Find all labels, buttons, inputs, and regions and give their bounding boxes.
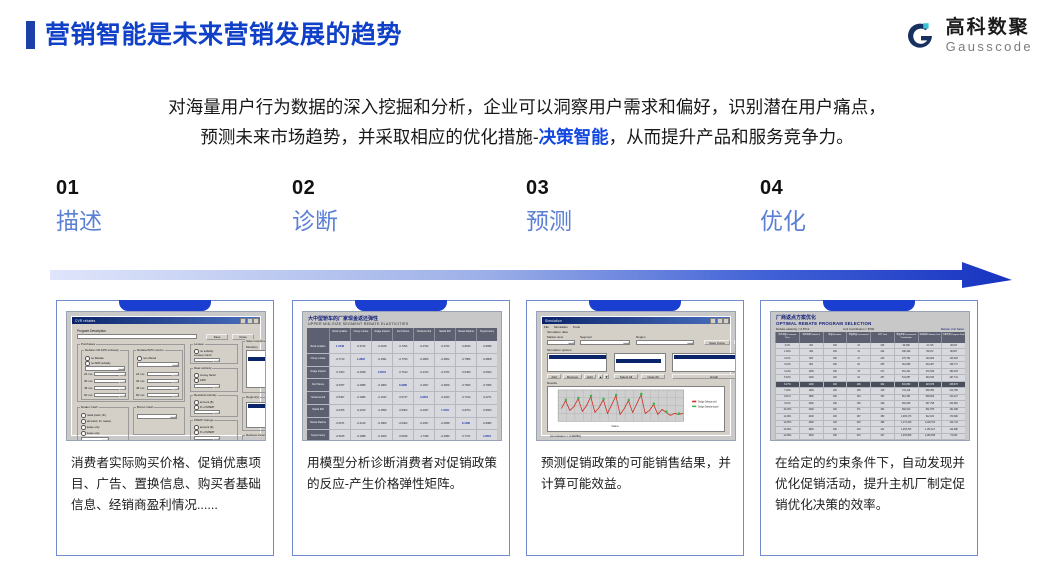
matrix-col-header: Mazda 626 [434, 328, 455, 341]
optimal-cell: 599,906 [918, 395, 942, 400]
optimal-cell: 249 [846, 440, 870, 441]
optimal-cell: 3.12% [775, 362, 799, 367]
clear-all-button[interactable]: Clear All [641, 374, 665, 379]
matrix-cell: -0.6490 [455, 367, 476, 379]
optimal-cell: 1,263,705 [894, 427, 918, 432]
intro-line-2-b: ，从而提升产品和服务竞争力。 [609, 127, 854, 147]
optimal-cell: 1,083,176 [894, 414, 918, 419]
matrix-cell: -0.2838 [434, 418, 455, 430]
optimal-col-header: 返还金额 Rebate $ [799, 332, 823, 343]
matrix-row-header: Chevy Lumina [307, 354, 329, 366]
optimal-cell: 190 [823, 356, 847, 361]
retrieve-incentives-group: Retrieve incentives Clear Restore curren… [242, 435, 266, 441]
rate-subsidy-label: Rate subsidy [193, 366, 212, 370]
matrix-cell: -0.1890 [371, 405, 392, 417]
optimal-cell: 10.02% [775, 408, 799, 413]
optimal-cell: 48,647 [941, 343, 965, 348]
optimal-cell: 187 [846, 414, 870, 419]
optimal-cell: 318 [870, 388, 894, 393]
optimal-cell: 190 [823, 401, 847, 406]
remove-button[interactable]: Remove [563, 374, 582, 379]
matrix-cell: -0.2588 [350, 379, 371, 391]
matrix-cell: -0.1988 [350, 430, 371, 441]
optimal-cell: 1800 [799, 395, 823, 400]
save-button[interactable]: Save [206, 334, 228, 340]
optimal-cell: 190 [823, 362, 847, 367]
optimal-cell: 203 [846, 421, 870, 426]
optimal-cell: 190 [823, 434, 847, 439]
optimal-cell: 190 [823, 414, 847, 419]
optimal-cell: 15.07% [775, 440, 799, 441]
rebate-combo-subgroup: Rebate/APR combo not offered 24 mo. 36 m… [133, 350, 183, 400]
mini-window: Simulation File Simulation Tools Simulat… [541, 316, 731, 436]
region-combo[interactable] [636, 340, 694, 345]
radio-all[interactable]: lease only [81, 425, 100, 430]
dialog-section-label: Program Description [77, 329, 106, 333]
matrix-cell: -0.7500 [455, 379, 476, 391]
optimal-cell: 144,733 [941, 421, 965, 426]
radio-not-offered[interactable]: not offered [137, 356, 156, 361]
optimal-cell: 190 [823, 421, 847, 426]
intro-line-1: 对海量用户行为数据的深入挖掘和分析，企业可以洞察用户需求和偏好，识别潜在用户痛点… [168, 97, 886, 117]
matrix-cell: 0.9480 [392, 379, 413, 391]
radio-amount[interactable]: amount ($) [194, 400, 213, 405]
optimal-subtitle-mid: Unit Contribution = $790 [843, 327, 874, 331]
optimal-cell: 3000 [799, 434, 823, 439]
optimal-subtitle-right: Rebate Unit Sales [941, 327, 964, 331]
matrix-cell: -0.2669 [434, 379, 455, 391]
row-24mo-combo-b[interactable] [147, 372, 179, 376]
optimal-cell: 6.17% [775, 382, 799, 387]
optimal-cell: 2600 [799, 421, 823, 426]
optimal-cell: 2000 [799, 401, 823, 406]
matrix-cell: -0.7793 [392, 354, 413, 366]
matrix-col-header: Ford Taurus [392, 328, 413, 341]
menu-file[interactable]: File [544, 325, 549, 329]
optimal-cell: 451,321 [894, 369, 918, 374]
svg-text:Dodge Dakota actual: Dodge Dakota actual [698, 405, 719, 408]
select-all-button[interactable]: Select All [614, 374, 638, 379]
matrix-cell: 7.1591 [434, 405, 455, 417]
optimal-cell: 1.00% [775, 349, 799, 354]
matrix-col-header: Dodge Intrepid [371, 328, 392, 341]
step-labels: 01 描述 02 诊断 03 预测 04 优化 [0, 176, 1051, 246]
matrix-col-header: Buick LeSabre [329, 328, 350, 341]
matrix-row: Nissan Maxima-0.6671-0.2149-0.1869-0.630… [307, 418, 497, 431]
optimal-cell: 78 [846, 369, 870, 374]
program-description-input[interactable] [77, 334, 197, 339]
optimal-cell: 1,151,617 [918, 427, 942, 432]
optimal-subtitle-left: Rebate elasticity = 0.8712 [776, 327, 809, 331]
lessee-group-label: Lessee [193, 342, 205, 346]
optimal-cell: 2200 [799, 408, 823, 413]
matrix-cell: -0.1697 [413, 379, 434, 391]
matrix-cell: -0.7586 [455, 354, 476, 366]
optimal-cell: 340,846 [918, 375, 942, 380]
row-36mo-combo-b[interactable] [147, 379, 179, 383]
process-arrow [50, 262, 1012, 290]
radio-no-rebate[interactable]: no Rebate [85, 356, 104, 361]
optimal-title-en: OPTIMAL REBATE PROGRAM SELECTION [776, 321, 872, 326]
optimal-cell: 992,910 [894, 408, 918, 413]
radio-msrp-amount[interactable]: amount ($) [194, 425, 213, 430]
vehicle-listbox[interactable] [614, 353, 666, 372]
print-button[interactable]: Print [734, 340, 736, 345]
row-label-36mo-b: 36 mo. [136, 380, 145, 383]
mini-window: CVR rebates Program Description Save Clo… [71, 316, 261, 436]
matrix-cell: -0.6302 [392, 418, 413, 430]
card-thumbnail-dialog: CVR rebates Program Description Save Clo… [66, 311, 266, 441]
radio-no-apr[interactable]: no APR subsidy [85, 361, 111, 366]
optimal-body: 0.0%2001901620690,36841,71848,6471.00%40… [775, 343, 965, 436]
vehicle-selected-item [616, 359, 662, 363]
mini-window-titlebar: Simulation [542, 317, 730, 324]
optimal-col-header: 返还成本 Rebate Cost [918, 332, 942, 343]
residual-subsidy-group: Residual subsidy amount ($) % of MSRP [190, 395, 238, 417]
intro-line-2: 预测未来市场趋势，并采取相应的优化措施-决策智能，从而提升产品和服务竞争力。 [52, 122, 1002, 152]
rate-subsidy-combo[interactable] [194, 384, 220, 388]
optimal-cell: 73,030 [941, 434, 965, 439]
optimal-cell: 427 [870, 434, 894, 439]
intro-paragraph: 对海量用户行为数据的深入挖掘和分析，企业可以洞察用户需求和偏好，识别潜在用户痛点… [52, 92, 1002, 152]
matrix-cell: -0.5747 [392, 392, 413, 404]
optimal-cell: 423,979 [918, 382, 942, 387]
stage-cards: CVR rebates Program Description Save Clo… [0, 300, 1051, 558]
optimal-cell: 14.08% [775, 434, 799, 439]
matrix-cell: -0.7905 [476, 379, 497, 391]
optimal-cell: 190 [823, 427, 847, 432]
matrix-cell: -0.2380 [434, 430, 455, 441]
brand-logo: 高科数聚 Gausscode [903, 18, 1033, 53]
optimal-cell: 190 [823, 388, 847, 393]
step-number: 03 [526, 176, 726, 200]
rate-subsidy-group: Rate subsidy money factor APR [190, 368, 238, 392]
optimal-cell: 1,416,794 [918, 440, 942, 441]
row-label-60mo-b: 60 mo. [136, 394, 145, 397]
optimal-cell: 1,353,968 [894, 434, 918, 439]
svg-text:Volume: Volume [611, 425, 619, 428]
optimal-cell: 1200 [799, 375, 823, 380]
regions-listbox[interactable] [246, 402, 266, 428]
matrix-cell: 0.8712 [371, 367, 392, 379]
optimal-cell: 112,088 [941, 427, 965, 432]
svg-text:Dodge Dakota sold: Dodge Dakota sold [698, 400, 717, 403]
rebate-combo-label: Rebate/APR combo [136, 348, 165, 352]
matrix-cell: 4.0254 [413, 392, 434, 404]
optimal-cell: 171 [846, 408, 870, 413]
optimal-cell: 156 [846, 401, 870, 406]
segment-combo[interactable] [580, 340, 630, 345]
optimal-cell: 722,119 [894, 388, 918, 393]
matrix-cell: -0.2233 [350, 405, 371, 417]
row-60mo-combo[interactable] [94, 393, 126, 397]
output-listbox[interactable] [672, 353, 736, 372]
regions-selected-item [248, 404, 267, 408]
row-48mo-combo-b[interactable] [147, 386, 179, 390]
optimal-cell: 197,741 [941, 375, 965, 380]
dealer-cash-label: Dealer Cash [80, 405, 99, 409]
minimize-icon [240, 318, 246, 324]
optimal-cell: 190 [823, 382, 847, 387]
matrix-cell: -0.9996 [476, 341, 497, 353]
mini-window-titlebar: CVR rebates [72, 317, 260, 324]
rebate-combo[interactable] [85, 366, 125, 371]
matrix-cell: -0.6671 [329, 418, 350, 430]
models-label: Model(s) [246, 346, 258, 349]
optimal-cell: 302 [870, 382, 894, 387]
stage-card-2[interactable]: 大中型轿车的厂家现金返还弹性 UPPER MID-SIZE SEGMENT RE… [292, 300, 510, 556]
matrix-cell: -0.1986 [350, 392, 371, 404]
results-label: Results [547, 382, 557, 385]
radio-retail[interactable]: all (cash, fin, lease) [81, 419, 111, 424]
mini-window-title: Simulation [543, 319, 562, 323]
optimal-cell: 1400 [799, 382, 823, 387]
lessee-cash-label: Lessee Cash [194, 354, 212, 357]
optimal-cell: 1,444,232 [894, 440, 918, 441]
rebate-apr-label: Rebate OR APR subvedy [84, 348, 120, 352]
title-accent-bar [26, 21, 35, 49]
matrix-cell: -0.7314 [455, 392, 476, 404]
mini-window-body: Program Description Save Close Purchases… [74, 327, 258, 433]
optimal-cell: 270,949 [918, 369, 942, 374]
optimal-cell: 800 [799, 362, 823, 367]
matrix-cell: -0.1860 [371, 379, 392, 391]
close-icon [723, 318, 729, 324]
page-title: 营销智能是未来营销发展的趋势 [26, 21, 402, 49]
optimal-cell: 902,648 [894, 401, 918, 406]
matrix-row-header: Buick LeSabre [307, 341, 329, 353]
msrp-change-group: MSRP change amount ($) % of MSRP [190, 420, 238, 441]
optimal-cell: 400 [799, 349, 823, 354]
simulation-options-listbox[interactable] [547, 353, 607, 372]
card-tab-marker [823, 300, 915, 311]
matrix-title-cn: 大中型轿车的厂家现金返还弹性 [308, 315, 378, 322]
matrix-cell: -0.2149 [350, 418, 371, 430]
optimal-cell: 89,672 [918, 349, 942, 354]
row-48mo-combo[interactable] [94, 386, 126, 390]
matrix-cell: -0.9663 [476, 405, 497, 417]
optimal-cell: 28,438 [941, 440, 965, 441]
matrix-cell: -0.9808 [476, 354, 497, 366]
matrix-cell: -0.7510 [392, 367, 413, 379]
step-item-01: 01 描述 [56, 176, 256, 236]
card-caption: 用模型分析诊断消费者对促销政策的反应-产生价格弹性矩阵。 [307, 453, 497, 495]
optimal-cell: 271 [870, 369, 894, 374]
optimal-cell: 1,028,703 [918, 421, 942, 426]
matrix-row-header: Dodge Intrepid [307, 367, 329, 379]
optimal-col-header: 实际销量 Customer Price [775, 332, 799, 343]
radio-apr[interactable]: APR [194, 378, 206, 383]
matrix-row-header: Toyota Camry [307, 430, 329, 441]
move-up-icon[interactable]: ▲ [598, 374, 603, 379]
bonus-cash-combo[interactable] [137, 414, 177, 419]
correlation-footer: (Correlation = 0.98386) [550, 435, 581, 438]
mini-window-title: CVR rebates [73, 319, 95, 323]
dealer-cash-group: Dealer Cash retail (cash, fin) all (cash… [77, 407, 129, 441]
matrix-cell: -0.8704 [455, 405, 476, 417]
step-item-03: 03 预测 [526, 176, 726, 236]
row-label-60mo: 60 mo. [84, 394, 93, 397]
models-listbox[interactable] [246, 350, 266, 388]
bonus-cash-group: Bonus Cash [133, 407, 185, 435]
matrix-row: Buick LeSabre1.1548-0.3742-0.2018-0.7254… [307, 341, 497, 354]
slide-header: 营销智能是未来营销发展的趋势 高科数聚 Gausscode [0, 0, 1051, 74]
optimal-cell: 125 [846, 388, 870, 393]
residual-subsidy-combo[interactable] [194, 410, 220, 414]
optimal-cell: 12.05% [775, 421, 799, 426]
step-item-02: 02 诊断 [292, 176, 492, 236]
intro-highlight: 决策智能 [539, 127, 609, 147]
matrix-row: Ford Taurus-0.6787-0.2588-0.18600.9480-0… [307, 379, 497, 392]
intro-line-2-a: 预测未来市场趋势，并采取相应的优化措施- [200, 127, 538, 147]
optimal-row: 15.07%32001902494421,444,2321,416,79428,… [775, 440, 965, 441]
dealer-cash-combo[interactable] [81, 437, 109, 441]
radio-msrp-pct[interactable]: % of MSRP [194, 430, 214, 435]
retrieve-incentives-label: Retrieve incentives [245, 433, 266, 437]
optimal-cell: 94 [846, 375, 870, 380]
optimal-cell: 1000 [799, 369, 823, 374]
optimal-cell: 190 [823, 408, 847, 413]
optimal-cell: 349 [870, 401, 894, 406]
stage-card-4[interactable]: 厂商返点方案优化 OPTIMAL REBATE PROGRAM SELECTIO… [760, 300, 978, 556]
matrix-cell: -0.2307 [413, 418, 434, 430]
radio-lease-only[interactable]: lease only [81, 431, 100, 436]
step-number: 01 [56, 176, 256, 200]
output-selected-item [674, 355, 737, 359]
optimal-cell: 2400 [799, 414, 823, 419]
optimal-cell: 204,881 [941, 401, 965, 406]
msrp-change-combo[interactable] [194, 436, 220, 440]
rebate-apr-subgroup: Rebate OR APR subvedy no Rebate no APR s… [81, 350, 129, 400]
optimal-cell: 9.11% [775, 401, 799, 406]
lessee-cash-combo[interactable] [194, 358, 220, 362]
optimal-cell: 200 [799, 343, 823, 348]
matrix-cell: -0.1642 [371, 392, 392, 404]
matrix-row-header: Mazda 626 [307, 405, 329, 417]
optimal-cell: 190 [823, 343, 847, 348]
optimal-cell: 234 [846, 434, 870, 439]
optimal-cell: 218 [846, 427, 870, 432]
combo-term[interactable] [137, 362, 179, 367]
market-view-combo[interactable] [547, 340, 575, 345]
row-24mo-combo[interactable] [94, 372, 126, 376]
optimal-cell: 812,381 [894, 395, 918, 400]
matrix-cell: -0.1991 [371, 354, 392, 366]
optimal-cell: 212,427 [941, 395, 965, 400]
matrix-row: Honda Accord-0.5497-0.1986-0.1642-0.5747… [307, 392, 497, 405]
matrix-row: Dodge Intrepid-0.7204-0.29280.8712-0.751… [307, 367, 497, 380]
move-down-icon[interactable]: ▼ [604, 374, 609, 379]
optimal-cell: 190 [823, 395, 847, 400]
step-number: 04 [760, 176, 960, 200]
matrix-cell: 8.1480 [455, 418, 476, 430]
optimal-cell: 2800 [799, 427, 823, 432]
card-thumbnail-matrix: 大中型轿车的厂家现金返还弹性 UPPER MID-SIZE SEGMENT RE… [302, 311, 502, 441]
optimal-cell: 1,280,938 [918, 434, 942, 439]
radio-pct-msrp[interactable]: % of MSRP [194, 405, 214, 410]
optimal-cell: 7.19% [775, 388, 799, 393]
matrix-row-header: Ford Taurus [307, 379, 329, 391]
optimal-cell: 541,587 [894, 375, 918, 380]
optimal-cell: 631,852 [894, 382, 918, 387]
bonus-cash-label: Bonus Cash [136, 405, 154, 409]
add-button[interactable]: Add [547, 374, 561, 379]
radio-cash-only[interactable]: retail (cash, fin) [81, 413, 106, 418]
optimal-col-header: 增量销量 Incremental [846, 332, 870, 343]
optimal-cell: 395 [870, 421, 894, 426]
matrix-cell: -0.7254 [392, 341, 413, 353]
optimal-cell: 62 [846, 362, 870, 367]
optimal-cell: 191,038 [941, 408, 965, 413]
optimal-cell: 204,287 [918, 362, 942, 367]
simulation-selected-item [549, 355, 606, 359]
card-caption: 在给定的约束条件下，自动发现并优化促销活动，提升主机厂制定促销优化决策的效率。 [775, 453, 965, 516]
optimal-cell: 90,368 [894, 343, 918, 348]
matrix-cell: -1.7436 [413, 430, 434, 441]
optimal-cell: 600 [799, 356, 823, 361]
card-caption: 预测促销政策的可能销售结果，并计算可能效益。 [541, 453, 731, 495]
optimal-rebate-table: 厂商返点方案优化 OPTIMAL REBATE PROGRAM SELECTIO… [771, 312, 969, 440]
optimal-cell: 2.11% [775, 356, 799, 361]
matrix-cell: 1.2822 [350, 354, 371, 366]
optimal-cell: 180,378 [941, 369, 965, 374]
step-number: 02 [292, 176, 492, 200]
optimal-cell: 287 [870, 375, 894, 380]
edit-button[interactable]: Edit [584, 374, 596, 379]
optimal-cell: 109 [846, 382, 870, 387]
optimal-cell: 0.0% [775, 343, 799, 348]
regions-label: Region(s) [245, 395, 260, 399]
optimal-cell: 13.06% [775, 427, 799, 432]
stage-card-3[interactable]: Simulation File Simulation Tools Simulat… [526, 300, 744, 556]
row-label-36mo: 36 mo. [84, 380, 93, 383]
matrix-cell: -0.2802 [434, 354, 455, 366]
elasticity-table: 大中型轿车的厂家现金返还弹性 UPPER MID-SIZE SEGMENT RE… [303, 312, 501, 440]
optimal-cell: 333 [870, 395, 894, 400]
menu-simulation[interactable]: Simulation [554, 325, 568, 329]
maximize-icon [717, 318, 723, 324]
save-curve-button[interactable]: Save Curve [704, 340, 730, 345]
optimal-cell: 364 [870, 408, 894, 413]
stage-card-1[interactable]: CVR rebates Program Description Save Clo… [56, 300, 274, 556]
menu-bar[interactable]: File Simulation Tools [544, 325, 580, 329]
matrix-cell: -0.2307 [413, 405, 434, 417]
optimal-cell: 361,058 [894, 362, 918, 367]
lessee-group: Lessee no subsidy Lessee Cash [190, 344, 238, 364]
matrix-cell: -0.8040 [455, 341, 476, 353]
step-label: 预测 [526, 206, 726, 236]
simulation-data-label: Simulation data [547, 331, 568, 334]
matrix-cell: -0.7204 [329, 367, 350, 379]
optimal-col-header: 增量贡献 Incremental Contribution [894, 332, 918, 343]
optimal-cell: 41,718 [918, 343, 942, 348]
optimal-cell: 170,990 [941, 414, 965, 419]
matrix-body: Buick LeSabre1.1548-0.3742-0.2018-0.7254… [307, 341, 497, 435]
matrix-cell: -0.5645 [329, 430, 350, 441]
row-60mo-combo-b[interactable] [147, 393, 179, 397]
menu-tools[interactable]: Tools [573, 325, 580, 329]
row-36mo-combo[interactable] [94, 379, 126, 383]
optimal-cell: 270,754 [894, 356, 918, 361]
optimal-col-header: 数量 Baseline [823, 332, 847, 343]
graph-button[interactable]: Graph [672, 374, 736, 379]
optimal-cell: 190 [823, 369, 847, 374]
optimal-cell: 4.14% [775, 369, 799, 374]
matrix-col-header: Nissan Maxima [455, 328, 476, 341]
matrix-cell: -0.7713 [329, 354, 350, 366]
mini-window-body: Simulation data Market view Segment Regi… [544, 330, 728, 433]
radio-money-factor[interactable]: money factor [194, 373, 216, 378]
